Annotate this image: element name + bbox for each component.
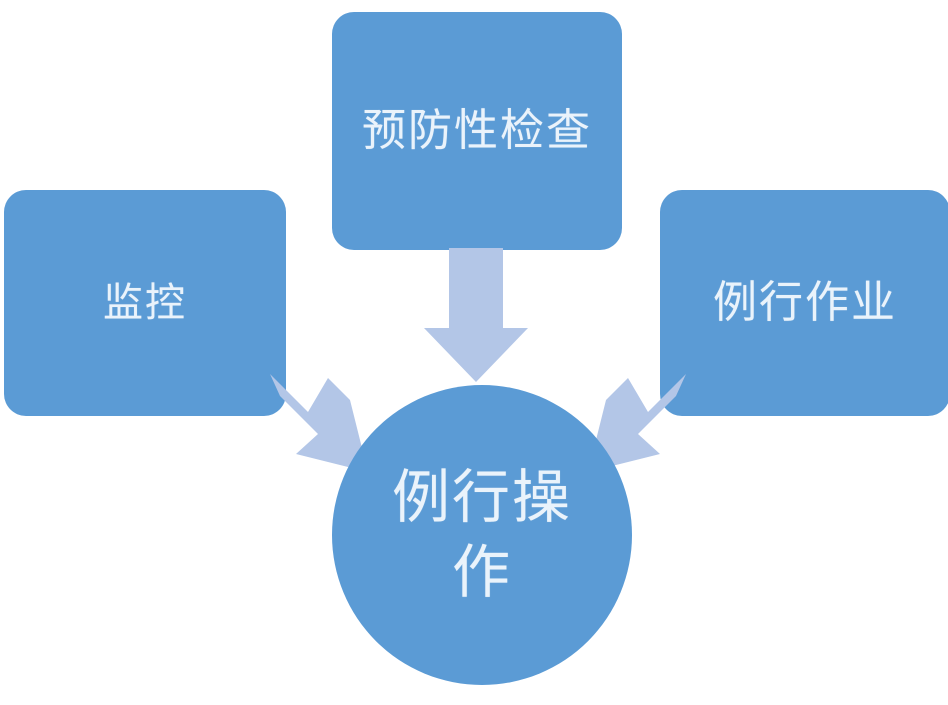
node-preventive-check-label: 预防性检查 (362, 105, 592, 157)
down-block-arrow-icon (424, 248, 528, 382)
diagonal-block-arrow-icon-left (256, 360, 368, 472)
node-preventive-check[interactable]: 预防性检查 (332, 12, 622, 250)
node-monitoring[interactable]: 监控 (4, 190, 286, 416)
node-routine-job-label: 例行作业 (713, 277, 897, 329)
node-routine-job[interactable]: 例行作业 (660, 190, 948, 416)
diagram-canvas: 监控 预防性检查 例行作业 例行操 作 (0, 0, 948, 705)
node-routine-operation[interactable]: 例行操 作 (332, 385, 632, 685)
node-monitoring-label: 监控 (103, 279, 187, 326)
node-routine-operation-label: 例行操 作 (382, 460, 582, 611)
